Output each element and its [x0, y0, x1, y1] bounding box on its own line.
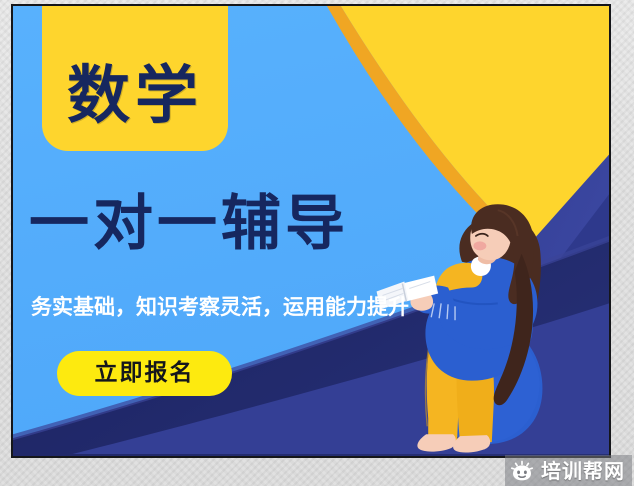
girl-cheek: [473, 241, 486, 250]
math-tutoring-banner: 数学 一对一辅导 务实基础，知识考察灵活，运用能力提升 立即报名: [11, 4, 611, 458]
signup-cta-label: 立即报名: [95, 362, 195, 385]
sun-face-icon: [510, 460, 534, 482]
watermark-label: 培训帮网: [541, 461, 625, 481]
subject-badge: 数学: [42, 4, 228, 151]
sun-face-eye-right: [524, 470, 527, 474]
girl-foot-left: [417, 434, 455, 451]
subject-badge-label: 数学: [67, 64, 203, 151]
watermark: 培训帮网: [505, 455, 632, 486]
girl-figure: [377, 204, 543, 452]
sun-face-eye-left: [517, 470, 520, 474]
subheadline-text: 务实基础，知识考察灵活，运用能力提升: [31, 297, 409, 318]
sun-face-body: [513, 465, 531, 480]
headline-text: 一对一辅导: [29, 194, 349, 254]
poster-page: 数学 一对一辅导 务实基础，知识考察灵活，运用能力提升 立即报名 培训帮网: [0, 0, 634, 486]
girl-foot-right: [453, 435, 490, 452]
signup-cta-button[interactable]: 立即报名: [57, 351, 232, 396]
